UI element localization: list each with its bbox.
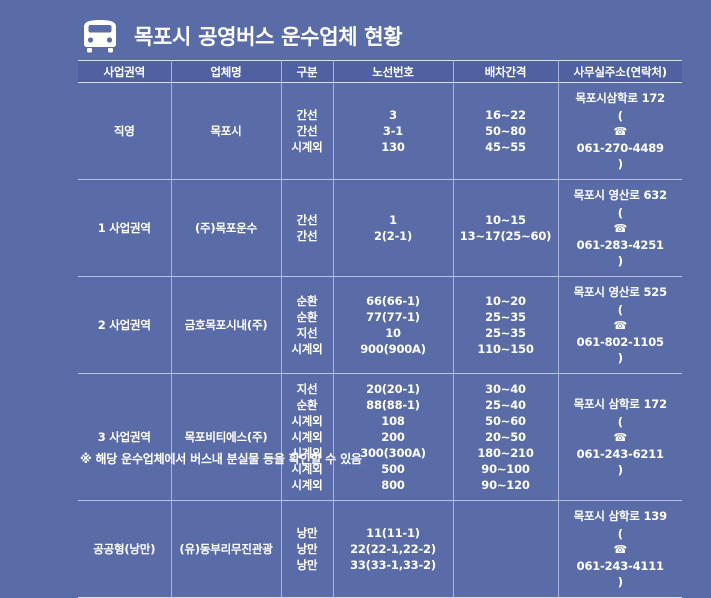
- cell-route: 11(11-1) 22(22-1,22-2) 33(33-1,33-2): [333, 501, 453, 598]
- interval-item: 45~55: [456, 139, 556, 155]
- route-item: 10: [336, 325, 451, 341]
- office-phone: 061-243-6211: [561, 446, 681, 462]
- column-header-region: 사업권역: [78, 61, 171, 83]
- route-item: 3-1: [336, 123, 451, 139]
- interval-item: 50~60: [456, 413, 556, 429]
- cell-region: 1 사업권역: [78, 180, 171, 277]
- type-item: 시계외: [284, 429, 331, 445]
- route-item: 20(20-1): [336, 381, 451, 397]
- telephone-icon: ☎: [561, 542, 681, 558]
- type-item: 지선: [284, 381, 331, 397]
- route-item: 77(77-1): [336, 309, 451, 325]
- interval-item: 50~80: [456, 123, 556, 139]
- cell-region: 2 사업권역: [78, 277, 171, 374]
- route-item: 11(11-1): [336, 525, 451, 541]
- telephone-icon: ☎: [561, 318, 681, 334]
- table-row: 1 사업권역 (주)목포운수 간선 간선 1 2(2-1): [78, 180, 682, 277]
- cell-office: 목포시 영산로 632 (☎061-283-4251): [558, 180, 682, 277]
- cell-type: 낭만 낭만 낭만: [281, 501, 333, 598]
- telephone-icon: ☎: [561, 124, 681, 140]
- page-title: 목포시 공영버스 운수업체 현황: [134, 21, 402, 51]
- bus-icon: [78, 19, 122, 53]
- table-body: 직영 목포시 간선 간선 시계외 3 3-1 130: [78, 83, 682, 598]
- type-item: 시계외: [284, 477, 331, 493]
- cell-route: 1 2(2-1): [333, 180, 453, 277]
- interval-item: 13~17(25~60): [456, 228, 556, 244]
- office-phone: 061-270-4489: [561, 140, 681, 156]
- cell-type: 지선 순환 시계외 시계외 시계외 시계외 시계외: [281, 374, 333, 501]
- telephone-icon: ☎: [561, 430, 681, 446]
- interval-item: 90~100: [456, 461, 556, 477]
- interval-item: 25~35: [456, 309, 556, 325]
- cell-office: 목포시 삼학로 139 (☎061-243-4111): [558, 501, 682, 598]
- office-phone-line: (☎061-243-4111): [561, 526, 681, 590]
- cell-interval: 30~40 25~40 50~60 20~50 180~210 90~100 9…: [453, 374, 558, 501]
- table-header: 사업권역 업체명 구분 노선번호 배차간격 사무실주소(연락처): [78, 61, 682, 83]
- table-header-row: 사업권역 업체명 구분 노선번호 배차간격 사무실주소(연락처): [78, 61, 682, 83]
- interval-item: 25~35: [456, 325, 556, 341]
- cell-region: 3 사업권역: [78, 374, 171, 501]
- cell-interval: 10~20 25~35 25~35 110~150: [453, 277, 558, 374]
- type-item: 간선: [284, 107, 331, 123]
- office-address: 목포시 삼학로 139: [561, 508, 681, 524]
- operator-table: 사업권역 업체명 구분 노선번호 배차간격 사무실주소(연락처) 직영 목포시 …: [78, 60, 682, 598]
- cell-company: (유)동부리무진관광: [171, 501, 281, 598]
- route-item: 3: [336, 107, 451, 123]
- cell-company: 목포비티에스(주): [171, 374, 281, 501]
- table-row: 공공형(낭만) (유)동부리무진관광 낭만 낭만 낭만 11(11-1) 22(…: [78, 501, 682, 598]
- type-item: 시계외: [284, 413, 331, 429]
- type-item: 낭만: [284, 525, 331, 541]
- interval-item: 90~120: [456, 477, 556, 493]
- interval-item: 25~40: [456, 397, 556, 413]
- type-item: 간선: [284, 212, 331, 228]
- route-item: 66(66-1): [336, 293, 451, 309]
- interval-item: 30~40: [456, 381, 556, 397]
- cell-route: 20(20-1) 88(88-1) 108 200 300(300A) 500 …: [333, 374, 453, 501]
- type-item: 시계외: [284, 341, 331, 357]
- type-item: 간선: [284, 228, 331, 244]
- cell-region: 직영: [78, 83, 171, 180]
- office-phone-line: (☎061-802-1105): [561, 302, 681, 366]
- interval-item: 110~150: [456, 341, 556, 357]
- route-item: 130: [336, 139, 451, 155]
- cell-interval: [453, 501, 558, 598]
- type-item: 시계외: [284, 139, 331, 155]
- route-item: 88(88-1): [336, 397, 451, 413]
- interval-item: 20~50: [456, 429, 556, 445]
- office-phone-line: (☎061-243-6211): [561, 414, 681, 478]
- type-item: 순환: [284, 397, 331, 413]
- cell-office: 목포시 영산로 525 (☎061-802-1105): [558, 277, 682, 374]
- cell-company: 목포시: [171, 83, 281, 180]
- interval-item: 10~20: [456, 293, 556, 309]
- interval-item: 180~210: [456, 445, 556, 461]
- operator-table-container: 사업권역 업체명 구분 노선번호 배차간격 사무실주소(연락처) 직영 목포시 …: [78, 60, 632, 598]
- office-address: 목포시 삼학로 172: [561, 396, 681, 412]
- column-header-company: 업체명: [171, 61, 281, 83]
- table-row: 3 사업권역 목포비티에스(주) 지선 순환 시계외 시계외 시계외 시계외 시…: [78, 374, 682, 501]
- cell-company: (주)목포운수: [171, 180, 281, 277]
- type-item: 낭만: [284, 557, 331, 573]
- office-address: 목포시 영산로 525: [561, 284, 681, 300]
- footnote-text: ※ 해당 운수업체에서 버스내 분실물 등을 확인할 수 있음: [80, 450, 362, 467]
- cell-type: 간선 간선 시계외: [281, 83, 333, 180]
- route-item: 900(900A): [336, 341, 451, 357]
- cell-route: 66(66-1) 77(77-1) 10 900(900A): [333, 277, 453, 374]
- office-phone: 061-802-1105: [561, 334, 681, 350]
- column-header-type: 구분: [281, 61, 333, 83]
- column-header-interval: 배차간격: [453, 61, 558, 83]
- cell-interval: 10~15 13~17(25~60): [453, 180, 558, 277]
- type-item: 간선: [284, 123, 331, 139]
- route-item: 33(33-1,33-2): [336, 557, 451, 573]
- office-address: 목포시삼학로 172: [561, 90, 681, 106]
- type-item: 순환: [284, 293, 331, 309]
- office-phone: 061-283-4251: [561, 237, 681, 253]
- route-item: 2(2-1): [336, 228, 451, 244]
- route-item: 1: [336, 212, 451, 228]
- type-item: 낭만: [284, 541, 331, 557]
- route-item: 200: [336, 429, 451, 445]
- office-address: 목포시 영산로 632: [561, 187, 681, 203]
- office-phone-line: (☎061-283-4251): [561, 205, 681, 269]
- cell-company: 금호목포시내(주): [171, 277, 281, 374]
- cell-office: 목포시삼학로 172 (☎061-270-4489): [558, 83, 682, 180]
- cell-office: 목포시 삼학로 172 (☎061-243-6211): [558, 374, 682, 501]
- cell-type: 간선 간선: [281, 180, 333, 277]
- column-header-office: 사무실주소(연락처): [558, 61, 682, 83]
- bus-operator-status-page: 목포시 공영버스 운수업체 현황 사업권역 업체명 구분 노선번호 배차간격 사…: [0, 0, 711, 495]
- type-item: 순환: [284, 309, 331, 325]
- cell-type: 순환 순환 지선 시계외: [281, 277, 333, 374]
- cell-region: 공공형(낭만): [78, 501, 171, 598]
- route-item: 800: [336, 477, 451, 493]
- route-item: 108: [336, 413, 451, 429]
- route-item: 22(22-1,22-2): [336, 541, 451, 557]
- office-phone: 061-243-4111: [561, 558, 681, 574]
- cell-interval: 16~22 50~80 45~55: [453, 83, 558, 180]
- page-header: 목포시 공영버스 운수업체 현황: [78, 14, 402, 58]
- interval-item: 10~15: [456, 212, 556, 228]
- table-row: 직영 목포시 간선 간선 시계외 3 3-1 130: [78, 83, 682, 180]
- column-header-route: 노선번호: [333, 61, 453, 83]
- office-phone-line: (☎061-270-4489): [561, 108, 681, 172]
- type-item: 지선: [284, 325, 331, 341]
- interval-item: 16~22: [456, 107, 556, 123]
- table-row: 2 사업권역 금호목포시내(주) 순환 순환 지선 시계외 66(66-1): [78, 277, 682, 374]
- cell-route: 3 3-1 130: [333, 83, 453, 180]
- telephone-icon: ☎: [561, 221, 681, 237]
